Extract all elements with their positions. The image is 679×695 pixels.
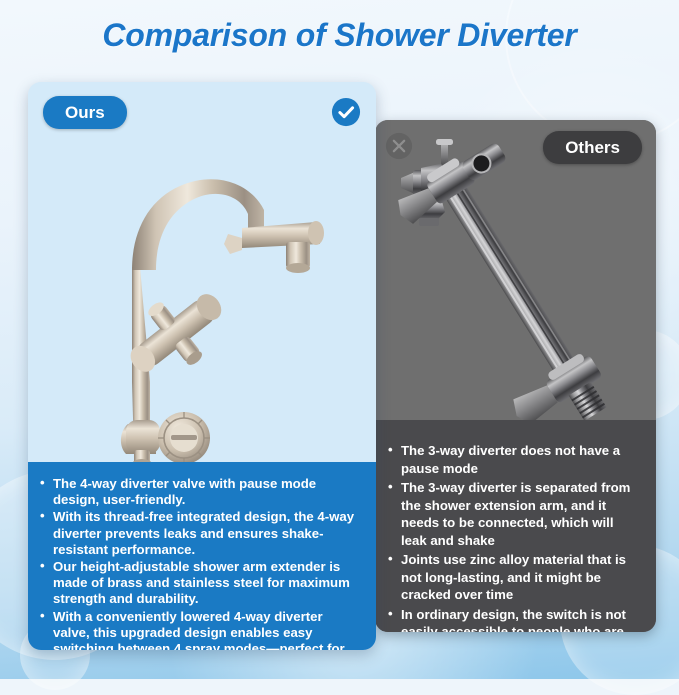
ours-product-image (28, 82, 376, 462)
list-item: Our height-adjustable shower arm extende… (40, 559, 362, 608)
list-item: The 3-way diverter does not have a pause… (388, 442, 642, 477)
others-bullet-list: The 3-way diverter does not have a pause… (388, 442, 642, 632)
others-text-area: The 3-way diverter does not have a pause… (375, 420, 656, 632)
list-item: The 3-way diverter is separated from the… (388, 479, 642, 549)
ours-panel: Ours (28, 82, 376, 650)
list-item: Joints use zinc alloy material that is n… (388, 551, 642, 604)
ours-image-area: Ours (28, 82, 376, 462)
page-title: Comparison of Shower Diverter (0, 17, 679, 54)
list-item: In ordinary design, the switch is not ea… (388, 606, 642, 633)
others-product-image (375, 120, 656, 420)
others-image-area: Others (375, 120, 656, 420)
list-item: With its thread-free integrated design, … (40, 509, 362, 558)
list-item: With a conveniently lowered 4-way divert… (40, 609, 362, 650)
ours-text-area: The 4-way diverter valve with pause mode… (28, 462, 376, 650)
ours-bullet-list: The 4-way diverter valve with pause mode… (40, 476, 362, 650)
others-panel: Others (375, 120, 656, 632)
list-item: The 4-way diverter valve with pause mode… (40, 476, 362, 508)
